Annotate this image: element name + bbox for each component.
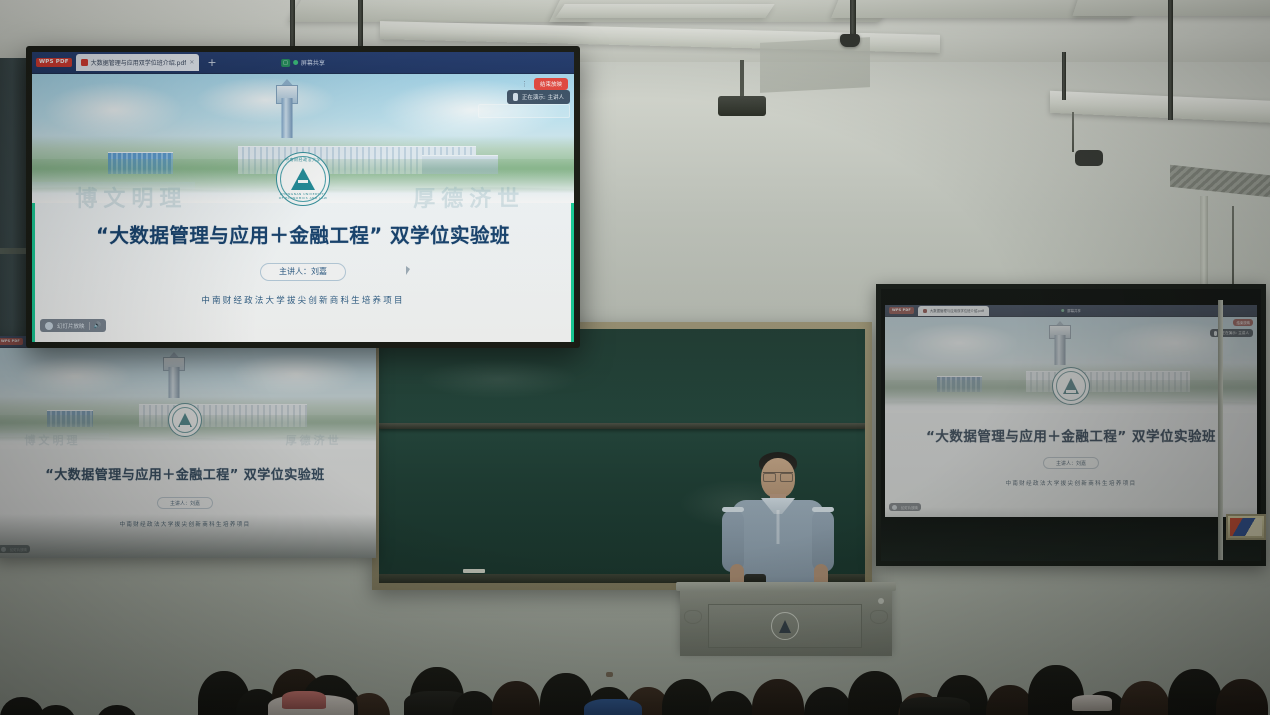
presenter-pill: 主讲人：刘嘉 [157,497,213,509]
wall-picture-image [1230,518,1262,536]
main-led-panel: WPS PDF 大数据管理与应用双学位班介绍.pdf ✕ + □ 屏幕共享 [26,46,580,348]
audience-head [986,685,1034,715]
wall-picture-frame [1226,514,1266,540]
tower-shaft [1054,335,1065,365]
watermark-right: 厚德济世 [413,181,525,213]
projection-screen-left: WPS PDF 大数据管理与应用双学位班介绍.pdf 屏幕共享 [0,336,376,558]
audience [0,595,1270,715]
audience-head [1168,669,1222,715]
presenter [722,452,834,602]
tower-shaft [168,367,179,399]
hair-clip [606,672,613,677]
wps-logo: WPS PDF [36,58,72,68]
university-emblem-icon [1052,367,1090,405]
projection-screen-right: WPS PDF 大数据管理与应用双学位班介绍.pdf 屏幕共享 [876,284,1266,566]
projection-screen-left-surface: WPS PDF 大数据管理与应用双学位班介绍.pdf 屏幕共享 [0,336,376,558]
more-icon[interactable]: ⋮ [521,80,528,88]
wps-window-titlebar: WPS PDF 大数据管理与应用双学位班介绍.pdf ✕ + □ 屏幕共享 [32,52,574,74]
plus-icon[interactable]: + [207,57,216,68]
play-icon[interactable] [892,505,897,510]
clock-tower [274,79,300,138]
main-led-panel-screen: WPS PDF 大数据管理与应用双学位班介绍.pdf ✕ + □ 屏幕共享 [32,52,574,342]
chalk-stick [463,569,485,573]
screen-share-status: □ 屏幕共享 [281,58,325,67]
slide-canvas-right: “大数据管理与应用＋金融工程” 双学位实验班 主讲人：刘嘉 中南财经政法大学拔尖… [885,317,1257,517]
presenting-status-bubble: 正在演示: 主讲人 [1210,329,1253,337]
slideshow-label: 幻灯片放映 [10,547,27,552]
audience-head [848,671,902,715]
emblem-glyph [291,168,315,190]
emblem-glyph [178,413,192,427]
ceiling-sensor [1075,150,1103,166]
document-tab[interactable]: 大数据管理与应用双学位班介绍.pdf [918,306,989,316]
audience-shoulders [1072,695,1112,711]
presenter-pill: 主讲人：刘嘉 [260,263,346,281]
screen-share-label: 屏幕共享 [301,58,325,67]
play-icon[interactable] [45,322,53,330]
presenter-sleeve [812,510,834,572]
audience-head [492,681,540,715]
hanging-cable [1072,112,1074,152]
presenting-status-label: 正在演示: 主讲人 [1221,331,1249,336]
chalkboard-rail [379,423,865,429]
presenter-sleeve [722,510,744,572]
university-emblem-icon [168,403,202,437]
audience-head [36,705,76,715]
projector-housing [718,96,766,116]
mount-pole [1168,0,1173,120]
slide-title: “大数据管理与应用＋金融工程” 双学位实验班 [885,425,1257,445]
wall-edge [1218,300,1223,560]
slideshow-label: 幻灯片放映 [901,505,918,510]
slide-canvas-left: 博文明理 厚德济世 “大数据管理与应用＋金融工程” 双学位实验班 主讲人：刘嘉 … [0,348,376,558]
audience-head [1216,679,1268,715]
audience-head [96,705,138,715]
wps-logo: WPS PDF [0,338,23,345]
slideshow-toolbar[interactable]: 幻灯片放映 [889,503,921,511]
mount-pole [1062,52,1066,100]
slide-subtitle: 中南财经政法大学拔尖创新商科生培养项目 [32,294,574,306]
emblem-text-bottom: ZHONGNAN UNIVERSITY OF ECONOMICS AND LAW [277,192,329,200]
slideshow-toolbar[interactable]: 幻灯片放映 [0,545,30,553]
presenting-status-bubble: 正在演示: 主讲人 [507,90,570,104]
document-tab-title: 大数据管理与应用双学位班介绍.pdf [91,58,187,67]
end-presentation-button[interactable]: 结束放映 [1233,319,1253,326]
watermark-left: 博文明理 [25,432,81,448]
pdf-file-icon [923,309,927,313]
university-emblem-icon: 中南财经政法大学 ZHONGNAN UNIVERSITY OF ECONOMIC… [276,152,330,206]
slide-title: “大数据管理与应用＋金融工程” 双学位实验班 [32,219,574,248]
cloud [43,82,184,139]
audience-shoulders [900,697,970,715]
presenter-pill: 主讲人：刘嘉 [1043,457,1099,469]
end-presentation-button[interactable]: 结束放映 [534,78,568,90]
slide-subtitle: 中南财经政法大学拔尖创新商科生培养项目 [885,479,1257,487]
play-icon[interactable] [1,547,6,552]
ceiling-beam [555,4,774,18]
clock-tower [161,352,187,398]
audience-shoulders [584,699,642,715]
emblem-glyph [1063,378,1079,394]
slide-subtitle: 中南财经政法大学拔尖创新商科生培养项目 [0,520,376,528]
document-tab-title: 大数据管理与应用双学位班介绍.pdf [930,308,984,313]
speaker-icon[interactable]: 🔊 [94,322,101,329]
watermark-left: 博文明理 [75,181,187,213]
screen-share-icon: □ [281,59,290,67]
slideshow-toolbar[interactable]: 幻灯片放映 🔊 [40,319,106,332]
mouse-cursor-icon [406,266,410,275]
watermark-right: 厚德济世 [286,432,342,448]
audience-head [1120,681,1170,715]
presenter-placket [777,510,780,544]
microphone-icon [513,93,518,101]
screenshot-root: WPS PDF 大数据管理与应用双学位班介绍.pdf 屏幕共享 [0,0,1270,715]
lectern-top [676,582,896,591]
emblem-text-top: 中南财经政法大学 [277,157,329,163]
chalk-smudge [419,359,579,399]
glasses-icon [763,472,793,479]
audience-head [662,679,712,715]
presenter-cuff [722,507,744,512]
close-icon[interactable]: ✕ [189,59,194,66]
clock-tower [1047,321,1073,365]
toolbar-divider [89,322,90,330]
share-active-dot [293,60,298,65]
projected-slide-left: WPS PDF 大数据管理与应用双学位班介绍.pdf 屏幕共享 [0,336,376,558]
cloud [231,352,361,396]
presentation-controls[interactable]: ⋮ 结束放映 [521,78,568,90]
screen-share-label: 屏幕共享 [1067,308,1081,313]
slide-canvas: 博文明理 厚德济世 中南财经政法大学 ZHONGNAN UNIVERSITY O… [32,74,574,342]
projector-arm [740,60,744,100]
screen-share-icon [1061,309,1064,312]
audience-head [804,687,852,715]
projection-screen-right-surface: WPS PDF 大数据管理与应用双学位班介绍.pdf 屏幕共享 [881,289,1261,561]
audience-head [752,679,804,715]
tower-shaft [281,98,292,138]
cloud [900,323,1019,363]
audience-head [708,691,754,715]
ceiling-camera-icon [840,34,860,47]
presenting-status-label: 正在演示: 主讲人 [522,93,564,101]
slideshow-label: 幻灯片放映 [57,322,85,330]
presenter-cuff [812,507,834,512]
slide-title: “大数据管理与应用＋金融工程” 双学位实验班 [0,464,376,483]
audience-head [0,697,44,715]
screen-share-status: 屏幕共享 [1061,308,1081,313]
pdf-file-icon [81,59,88,66]
cloud [195,77,336,123]
projected-slide-right: WPS PDF 大数据管理与应用双学位班介绍.pdf 屏幕共享 [885,305,1257,517]
wps-toolbar: WPS PDF 大数据管理与应用双学位班介绍.pdf 屏幕共享 [885,305,1257,317]
presenting-video-placeholder [478,104,570,118]
wps-logo: WPS PDF [889,307,914,314]
cloud [17,356,132,396]
document-tab[interactable]: 大数据管理与应用双学位班介绍.pdf ✕ [76,54,200,71]
audience-shoulders [282,691,326,709]
